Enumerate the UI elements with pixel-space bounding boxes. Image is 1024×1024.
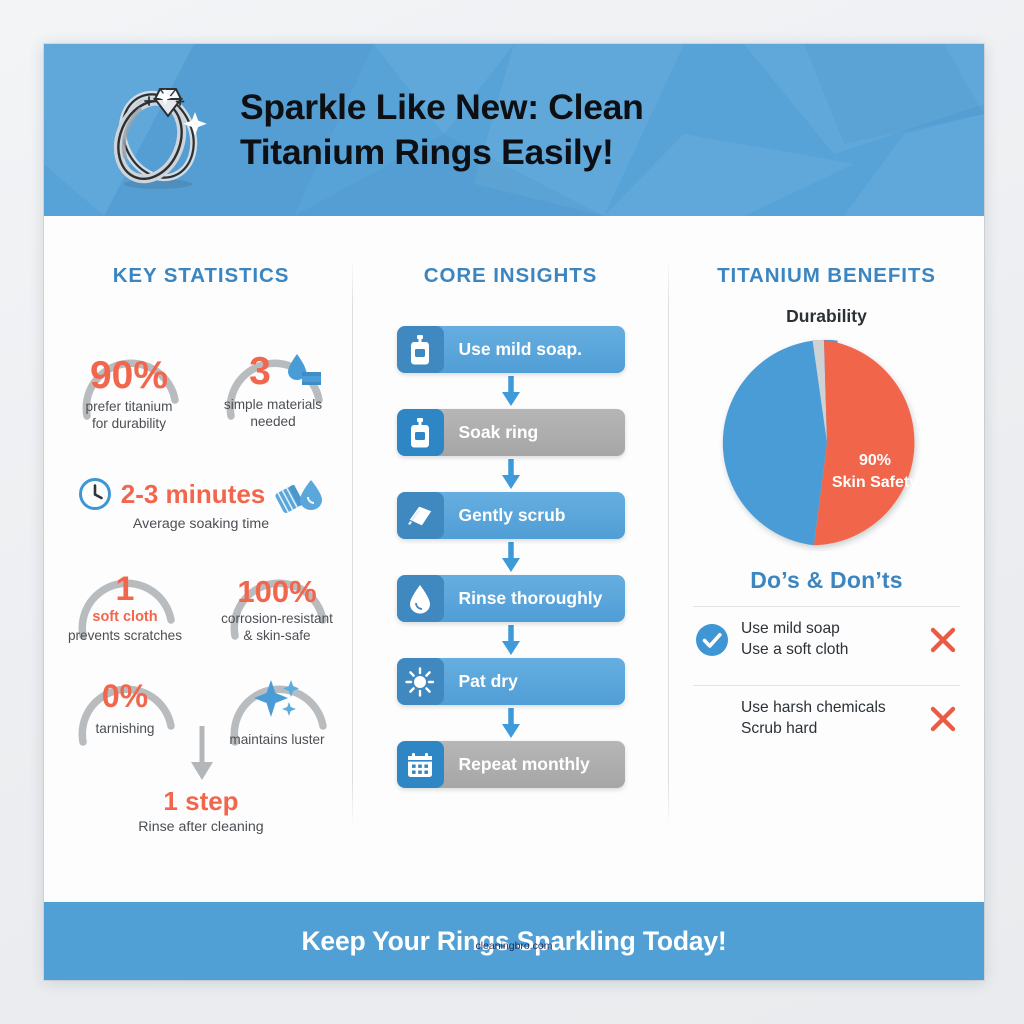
pie-slice-label: 90% xyxy=(858,452,890,469)
stat-0-percent: 0% tarnishing xyxy=(50,656,200,760)
stat-value: 2-3 minutes xyxy=(121,479,266,510)
cross-icon xyxy=(914,625,958,655)
donts-line: Use harsh chemicals xyxy=(741,698,914,719)
stat-value: 0% xyxy=(50,680,200,712)
brush-and-droplet-icon xyxy=(273,473,325,515)
stat-caption: corrosion-resistant& skin-safe xyxy=(187,611,367,644)
dos-row: Use mild soap Use a soft cloth xyxy=(693,607,960,673)
flow-step-label: Soak ring xyxy=(444,422,539,443)
page-root: Sparkle Like New: Clean Titanium Rings E… xyxy=(0,0,1024,1024)
stat-maintains-luster: maintains luster xyxy=(202,656,352,760)
down-arrow-icon xyxy=(188,726,216,784)
dos-and-donts-title: Do’s & Don’ts xyxy=(693,567,960,594)
process-flow: Use mild soap. xyxy=(353,326,668,788)
pie-chart: 90% Skin Safety xyxy=(719,335,935,551)
cross-icon xyxy=(914,704,958,734)
flow-arrow xyxy=(500,705,522,741)
stat-soaking-time: 2-3 minutes xyxy=(56,473,346,532)
flow-arrow xyxy=(500,539,522,575)
check-circle-icon xyxy=(695,623,741,657)
flow-arrow xyxy=(500,456,522,492)
titanium-benefits-heading: TITANIUM BENEFITS xyxy=(669,264,984,288)
soap-bottle-icon xyxy=(397,326,444,373)
flow-step[interactable]: Use mild soap. xyxy=(397,326,625,373)
stat-value: 100% xyxy=(202,576,352,607)
stat-final-step: 1 step Rinse after cleaning xyxy=(56,786,346,835)
soap-bottle-icon xyxy=(397,409,444,456)
column-key-statistics: KEY STATISTICS 90% prefer titaniumfor du… xyxy=(50,216,352,848)
water-drop-icon xyxy=(397,575,444,622)
watermark: cleaningbro.com xyxy=(475,940,552,952)
calendar-icon xyxy=(397,741,444,788)
cloth-icon xyxy=(397,492,444,539)
infographic-poster: Sparkle Like New: Clean Titanium Rings E… xyxy=(44,44,984,980)
stat-subaccent: soft cloth xyxy=(50,609,200,626)
column-titanium-benefits: TITANIUM BENEFITS Durability xyxy=(669,216,984,752)
flow-arrow xyxy=(500,622,522,658)
stat-caption: Average soaking time xyxy=(56,516,346,532)
stat-caption: simple materialsneeded xyxy=(198,397,348,430)
flow-step[interactable]: Gently scrub xyxy=(397,492,625,539)
donts-line: Scrub hard xyxy=(741,719,914,740)
stat-caption: Rinse after cleaning xyxy=(56,819,346,835)
poster-footer: Keep Your Rings Sparkling Today! cleanin… xyxy=(44,902,984,980)
stat-90-percent: 90% prefer titaniumfor durability xyxy=(54,330,204,434)
down-arrow-icon xyxy=(500,375,522,407)
key-statistics-heading: KEY STATISTICS xyxy=(50,264,352,288)
core-insights-heading: CORE INSIGHTS xyxy=(353,264,668,288)
flow-step[interactable]: Rinse thoroughly xyxy=(397,575,625,622)
flow-step[interactable]: Pat dry xyxy=(397,658,625,705)
flow-step-label: Pat dry xyxy=(444,671,518,692)
sun-icon xyxy=(397,658,444,705)
stat-caption: tarnishing xyxy=(50,721,200,738)
flow-step[interactable]: Repeat monthly xyxy=(397,741,625,788)
flow-step-label: Repeat monthly xyxy=(444,754,590,775)
flow-step-label: Rinse thoroughly xyxy=(444,588,603,609)
dos-text: Use mild soap Use a soft cloth xyxy=(741,619,914,661)
stat-1-soft-cloth: 1 soft cloth prevents scratches xyxy=(50,550,200,654)
flow-arrow xyxy=(500,373,522,409)
donts-row: Use harsh chemicals Scrub hard xyxy=(693,686,960,752)
stat-100-percent: 100% corrosion-resistant& skin-safe xyxy=(202,550,352,654)
pie-slice-label: Skin Safety xyxy=(831,474,917,491)
column-core-insights: CORE INSIGHTS xyxy=(353,216,668,788)
dos-line: Use mild soap xyxy=(741,619,914,640)
down-arrow-icon xyxy=(500,624,522,656)
flow-step-label: Use mild soap. xyxy=(444,339,583,360)
stat-value: 1 xyxy=(50,572,200,606)
flow-step-label: Gently scrub xyxy=(444,505,566,526)
diamond-ring-sparkle-icon xyxy=(94,66,222,194)
poster-body: KEY STATISTICS 90% prefer titaniumfor du… xyxy=(44,216,984,902)
sparkle-icon xyxy=(250,674,304,724)
dos-and-donts-section: Do’s & Don’ts Use mild soap Use a soft c… xyxy=(669,567,984,752)
down-arrow-icon xyxy=(500,458,522,490)
page-title: Sparkle Like New: Clean Titanium Rings E… xyxy=(240,85,760,176)
flow-step[interactable]: Soak ring xyxy=(397,409,625,456)
stat-value: 90% xyxy=(54,356,204,395)
dos-line: Use a soft cloth xyxy=(741,640,914,661)
down-arrow-icon xyxy=(500,541,522,573)
donts-text: Use harsh chemicals Scrub hard xyxy=(741,698,914,740)
down-arrow-icon xyxy=(500,707,522,739)
stat-3-materials: 3 simple materialsneeded xyxy=(198,330,348,434)
stat-value: 1 step xyxy=(56,786,346,817)
clock-icon xyxy=(77,476,113,512)
stat-caption: prefer titaniumfor durability xyxy=(54,399,204,432)
stat-value: 3 xyxy=(198,352,322,391)
pie-chart-title: Durability xyxy=(669,306,984,327)
pie-chart-block: Durability xyxy=(669,306,984,551)
poster-header: Sparkle Like New: Clean Titanium Rings E… xyxy=(44,44,984,216)
